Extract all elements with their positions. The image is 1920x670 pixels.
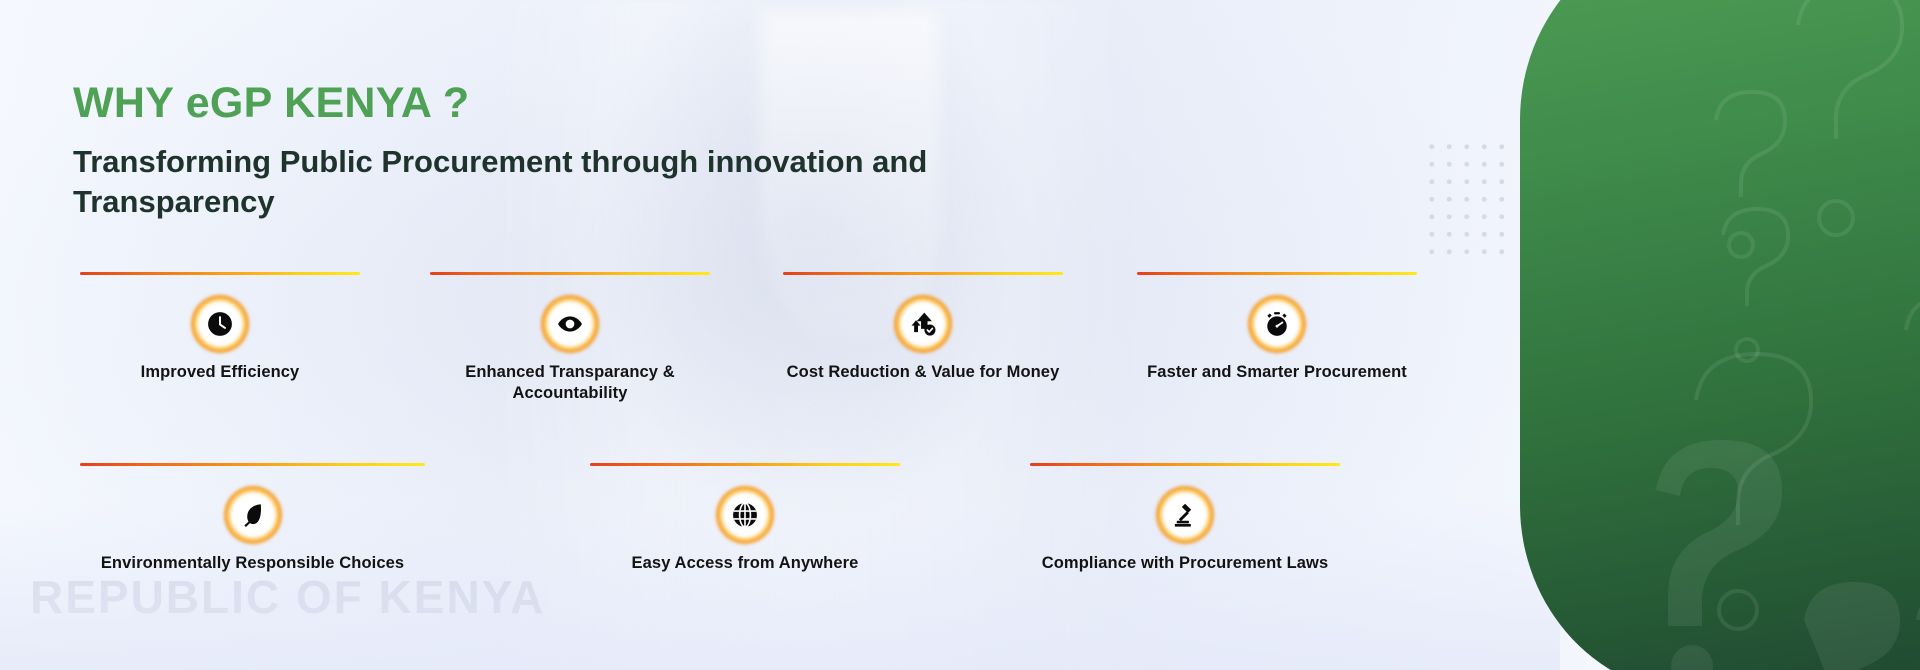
feature-icon-wrap (1248, 295, 1306, 353)
feature-icon-wrap (191, 295, 249, 353)
page-subtitle: Transforming Public Procurement through … (73, 142, 1113, 222)
feature-divider (590, 463, 900, 466)
arrows-check-icon (910, 311, 936, 337)
feature-divider (430, 272, 710, 275)
feature-label: Cost Reduction & Value for Money (783, 362, 1063, 383)
feature-icon-wrap (894, 295, 952, 353)
feature-divider (1137, 272, 1417, 275)
feature-divider (1030, 463, 1340, 466)
feature-environmentally-responsible[interactable]: Environmentally Responsible Choices (80, 463, 425, 574)
header-block: WHY eGP KENYA ? Transforming Public Proc… (73, 82, 1113, 222)
globe-icon (732, 502, 758, 528)
page-title: WHY eGP KENYA ? (73, 82, 1113, 125)
feature-label: Improved Efficiency (80, 362, 360, 383)
feature-icon-wrap (541, 295, 599, 353)
feature-icon-wrap (224, 486, 282, 544)
feature-label: Easy Access from Anywhere (590, 553, 900, 574)
feature-label: Enhanced Transparancy & Accountability (430, 362, 710, 405)
feature-icon-wrap (1156, 486, 1214, 544)
clock-icon (207, 311, 233, 337)
stopwatch-icon (1264, 311, 1290, 337)
feature-label: Faster and Smarter Procurement (1137, 362, 1417, 383)
feature-cost-reduction[interactable]: Cost Reduction & Value for Money (783, 272, 1063, 383)
feature-improved-efficiency[interactable]: Improved Efficiency (80, 272, 360, 383)
feature-divider (783, 272, 1063, 275)
question-mark-pattern-icon (1520, 0, 1920, 670)
feature-label: Compliance with Procurement Laws (1030, 553, 1340, 574)
feature-faster-procurement[interactable]: Faster and Smarter Procurement (1137, 272, 1417, 383)
feature-compliance-laws[interactable]: Compliance with Procurement Laws (1030, 463, 1340, 574)
leaf-icon (240, 502, 266, 528)
green-decorative-blob (1520, 0, 1920, 670)
gavel-icon (1172, 502, 1198, 528)
feature-divider (80, 463, 425, 466)
feature-icon-wrap (716, 486, 774, 544)
feature-easy-access[interactable]: Easy Access from Anywhere (590, 463, 900, 574)
decorative-dot-grid (1423, 138, 1509, 258)
feature-divider (80, 272, 360, 275)
eye-icon (557, 311, 583, 337)
feature-enhanced-transparency[interactable]: Enhanced Transparancy & Accountability (430, 272, 710, 405)
feature-label: Environmentally Responsible Choices (80, 553, 425, 574)
